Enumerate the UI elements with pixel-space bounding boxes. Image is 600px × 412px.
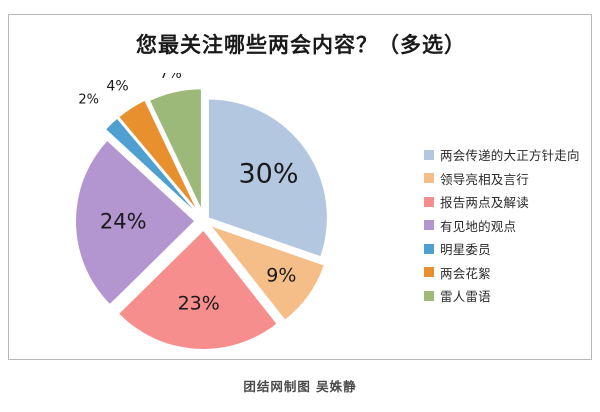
- legend: 两会传递的大正方针走向领导亮相及言行报告两点及解读有见地的观点明星委员两会花絮雷…: [424, 143, 594, 308]
- legend-item-label: 两会花絮: [440, 263, 491, 282]
- chart-frame: 您最关注哪些两会内容？（多选） 30%9%23%24%2%4%7% 两会传递的大…: [8, 14, 592, 360]
- pie-slice-value-label: 24%: [100, 209, 147, 233]
- legend-swatch-icon: [424, 267, 434, 277]
- chart-title: 您最关注哪些两会内容？（多选）: [9, 29, 593, 59]
- legend-swatch-icon: [424, 173, 434, 183]
- pie-slice-value-label: 30%: [238, 159, 298, 190]
- pie-svg: 30%9%23%24%2%4%7%: [19, 73, 409, 358]
- legend-item-label: 明星委员: [440, 239, 491, 258]
- legend-item-label: 报告两点及解读: [440, 192, 529, 211]
- legend-item[interactable]: 报告两点及解读: [424, 190, 594, 214]
- pie-slice-value-label: 2%: [78, 93, 99, 108]
- pie-chart: 30%9%23%24%2%4%7%: [19, 73, 409, 358]
- legend-swatch-icon: [424, 291, 434, 301]
- pie-slice-value-label: 23%: [178, 292, 220, 314]
- legend-item[interactable]: 两会传递的大正方针走向: [424, 143, 594, 167]
- legend-item-label: 领导亮相及言行: [440, 169, 529, 188]
- credit-line: 团结网制图 吴姝静: [0, 376, 600, 395]
- legend-item-label: 有见地的观点: [440, 216, 516, 235]
- legend-item[interactable]: 领导亮相及言行: [424, 167, 594, 191]
- legend-item-label: 雷人雷语: [440, 286, 491, 305]
- legend-swatch-icon: [424, 197, 434, 207]
- pie-slice-value-label: 4%: [106, 78, 128, 94]
- legend-item[interactable]: 雷人雷语: [424, 284, 594, 308]
- pie-slice-value-label: 9%: [266, 265, 296, 287]
- legend-item[interactable]: 有见地的观点: [424, 214, 594, 238]
- legend-item[interactable]: 两会花絮: [424, 261, 594, 285]
- legend-swatch-icon: [424, 244, 434, 254]
- pie-slice-value-label: 7%: [160, 73, 182, 82]
- legend-swatch-icon: [424, 150, 434, 160]
- legend-item[interactable]: 明星委员: [424, 237, 594, 261]
- legend-swatch-icon: [424, 220, 434, 230]
- legend-item-label: 两会传递的大正方针走向: [440, 145, 580, 164]
